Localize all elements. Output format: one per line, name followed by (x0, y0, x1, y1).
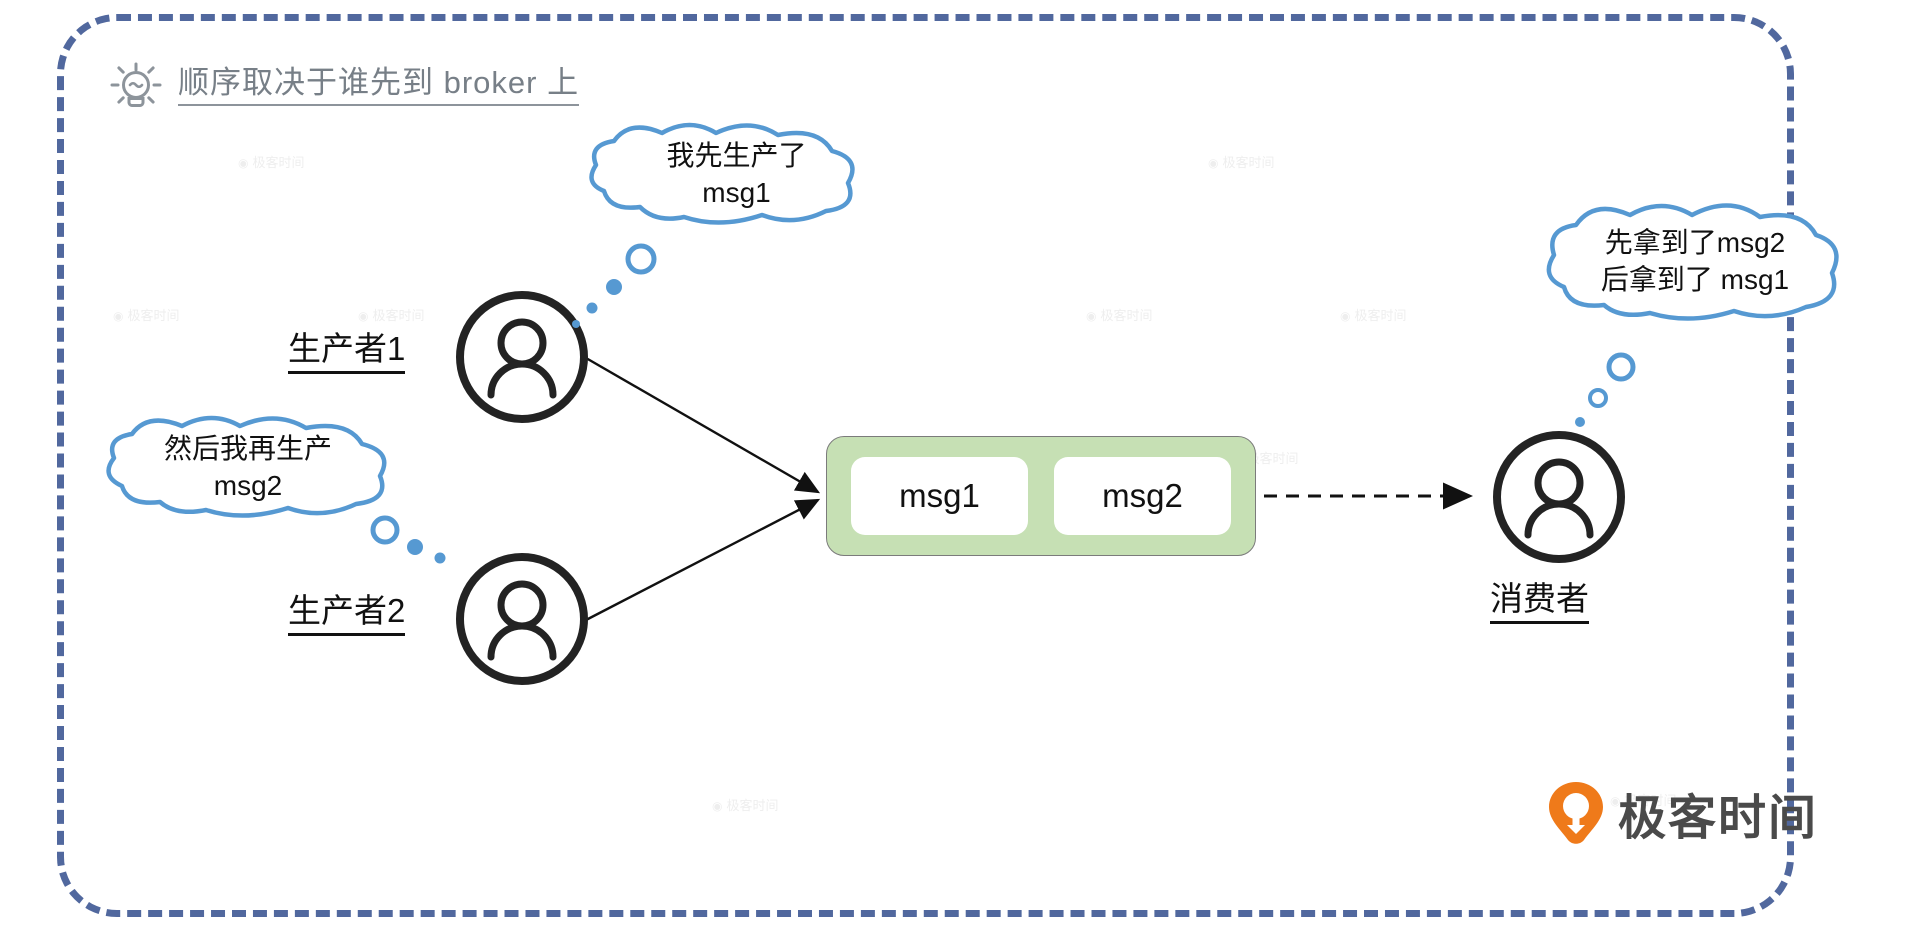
user-circle-icon (453, 288, 591, 426)
logo-text: 极客时间 (1618, 778, 1818, 848)
broker-queue[interactable]: msg1 msg2 (826, 436, 1256, 556)
producer1-avatar[interactable] (453, 288, 591, 426)
geekbang-pin-icon (1548, 781, 1604, 845)
bubble-line: 先拿到了msg2 (1605, 225, 1785, 262)
geekbang-logo: 极客时间 (1548, 778, 1818, 848)
producer1-label: 生产者1 (288, 330, 405, 374)
producer2-avatar[interactable] (453, 550, 591, 688)
bubble-line: 然后我再生产 (164, 431, 332, 468)
producer2-bubble: 然后我再生产 msg2 (98, 418, 398, 518)
user-circle-icon (453, 550, 591, 688)
page-title: 顺序取决于谁先到 broker 上 (178, 66, 579, 106)
bubble-line: msg2 (214, 468, 282, 505)
lightbulb-idea-icon (108, 58, 164, 114)
producer2-label: 生产者2 (288, 592, 405, 636)
diagram-canvas: 极客时间 极客时间 极客时间 极客时间 极客时间 极客时间 极客时间 极客时间 … (0, 0, 1920, 941)
bubble-text: 然后我再生产 msg2 (98, 418, 398, 518)
bubble-text: 我先生产了 msg1 (580, 125, 865, 225)
title-row: 顺序取决于谁先到 broker 上 (108, 58, 579, 114)
broker-message-msg2[interactable]: msg2 (1054, 457, 1231, 535)
consumer-bubble: 先拿到了msg2 后拿到了 msg1 (1540, 205, 1850, 325)
bubble-text: 先拿到了msg2 后拿到了 msg1 (1540, 205, 1850, 325)
producer1-bubble: 我先生产了 msg1 (580, 125, 865, 225)
consumer-label: 消费者 (1490, 580, 1589, 624)
bubble-line: msg1 (702, 175, 770, 212)
bubble-line: 后拿到了 msg1 (1601, 262, 1789, 299)
user-circle-icon (1490, 428, 1628, 566)
broker-message-msg1[interactable]: msg1 (851, 457, 1028, 535)
bubble-line: 我先生产了 (666, 138, 806, 175)
consumer-avatar[interactable] (1490, 428, 1628, 566)
